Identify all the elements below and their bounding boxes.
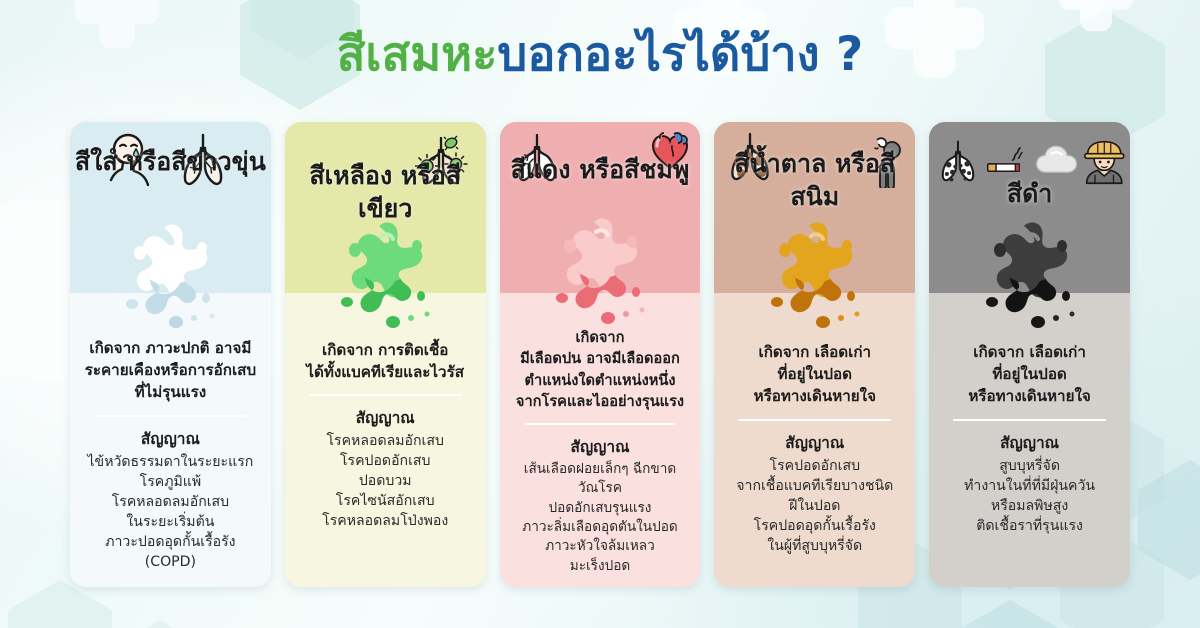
sign-list: เส้นเลือดฝอยเล็กๆ ฉีกขาด วัณโรค ปอดอักเส… (508, 460, 693, 576)
card-yellow-green[interactable]: สีเหลือง หรือสีเขียว เกิดจาก การติดเชื้อ… (285, 122, 486, 587)
sign-label: สัญญาณ (722, 430, 907, 455)
card-title: สีแดง หรือสีชมพู (500, 154, 701, 187)
sign-list: โรคหลอดลมอักเสบ โรคปอดอักเสบ ปอดบวม โรคไ… (293, 431, 478, 531)
cigarette-icon (985, 142, 1031, 182)
card-grid: สีใส หรือสีขาวขุ่น เกิดจาก ภาวะปกติ อาจม… (70, 122, 1130, 587)
card-red-pink[interactable]: สีแดง หรือสีชมพู เกิดจาก มีเลือดปน อาจมี… (500, 122, 701, 587)
card-title: สีน้ำตาล หรือสีสนิม (714, 148, 915, 213)
cause-text: เกิดจาก การติดเชื้อ ได้ทั้งแบคทีเรียและไ… (293, 339, 478, 383)
card-title: สีเหลือง หรือสีเขียว (285, 160, 486, 225)
card-title: สีใส หรือสีขาวขุ่น (70, 146, 271, 179)
card-black[interactable]: สีดำ เกิดจาก เลือดเก่า ที่อยู่ในปอด หรือ… (929, 122, 1130, 587)
card-header: สีดำ (929, 122, 1130, 293)
card-body: เกิดจาก ภาวะปกติ อาจมี ระคายเคืองหรือการ… (70, 293, 271, 587)
sign-label: สัญญาณ (78, 426, 263, 451)
divider (953, 419, 1106, 421)
page-title-blue: บอกอะไรได้บ้าง ? (497, 27, 863, 82)
cause-text: เกิดจาก เลือดเก่า ที่อยู่ในปอด หรือทางเด… (937, 341, 1122, 408)
sign-list: สูบบุหรี่จัด ทำงานในที่ที่มีฝุ่นควัน หรื… (937, 456, 1122, 536)
cause-text: เกิดจาก ภาวะปกติ อาจมี ระคายเคืองหรือการ… (78, 337, 263, 404)
card-body: เกิดจาก เลือดเก่า ที่อยู่ในปอด หรือทางเด… (929, 293, 1130, 587)
sign-list: โรคปอดอักเสบ จากเชื้อแบคทีเรียบางชนิด ฝี… (722, 456, 907, 556)
card-body: เกิดจาก การติดเชื้อ ได้ทั้งแบคทีเรียและไ… (285, 293, 486, 587)
card-header: สีใส หรือสีขาวขุ่น (70, 122, 271, 293)
sign-label: สัญญาณ (508, 434, 693, 459)
card-header: สีน้ำตาล หรือสีสนิม (714, 122, 915, 293)
card-body: เกิดจาก เลือดเก่า ที่อยู่ในปอด หรือทางเด… (714, 293, 915, 587)
cause-text: เกิดจาก เลือดเก่า ที่อยู่ในปอด หรือทางเด… (722, 341, 907, 408)
divider (309, 394, 462, 396)
sign-list: ไข้หวัดธรรมดาในระยะแรก โรคภูมิแพ้ โรคหลอ… (78, 452, 263, 572)
card-header: สีแดง หรือสีชมพู (500, 122, 701, 293)
card-body: เกิดจาก มีเลือดปน อาจมีเลือดออก ตำแหน่งใ… (500, 293, 701, 587)
card-brown-rust[interactable]: สีน้ำตาล หรือสีสนิม เกิดจาก เลือดเก่า ที… (714, 122, 915, 587)
cause-text: เกิดจาก มีเลือดปน อาจมีเลือดออก ตำแหน่งใ… (508, 327, 693, 412)
card-header: สีเหลือง หรือสีเขียว (285, 122, 486, 293)
sign-label: สัญญาณ (293, 405, 478, 430)
divider (94, 415, 247, 417)
page-title-green: สีเสมหะ (337, 27, 498, 82)
sign-label: สัญญาณ (937, 430, 1122, 455)
page-title: สีเสมหะบอกอะไรได้บ้าง ? (0, 28, 1200, 82)
card-clear-white[interactable]: สีใส หรือสีขาวขุ่น เกิดจาก ภาวะปกติ อาจม… (70, 122, 271, 587)
divider (524, 423, 677, 425)
divider (738, 419, 891, 421)
card-title: สีดำ (929, 178, 1130, 211)
